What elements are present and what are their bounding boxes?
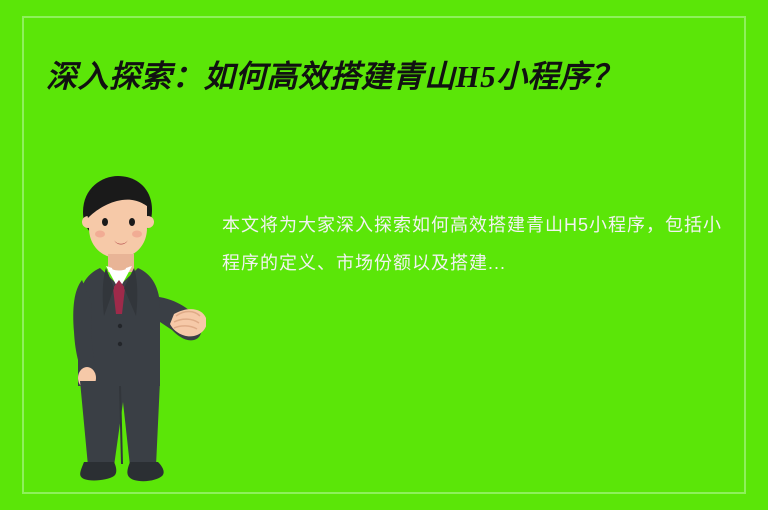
businessman-pointing-illustration <box>56 176 206 488</box>
article-title: 深入探索：如何高效搭建青山H5小程序？ <box>46 56 736 97</box>
article-card: 深入探索：如何高效搭建青山H5小程序？ 本文将为大家深入探索如何高效搭建青山H5… <box>0 0 768 510</box>
article-summary: 本文将为大家深入探索如何高效搭建青山H5小程序，包括小程序的定义、市场份额以及搭… <box>222 206 722 282</box>
